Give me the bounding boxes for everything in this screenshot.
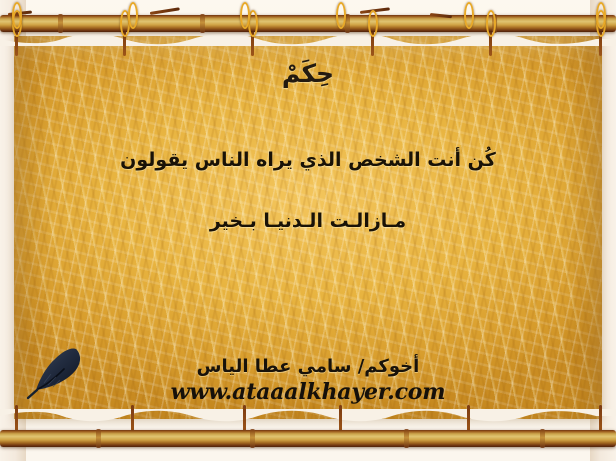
hanging-ring	[128, 2, 138, 29]
rod-node	[404, 429, 409, 448]
rod-node	[250, 429, 255, 448]
scroll-title: حِكَمْ	[30, 60, 586, 88]
quote-card-canvas: حِكَمْ كُن أنت الشخص الذي يراه الناس يقو…	[0, 0, 616, 461]
rod-node	[200, 14, 205, 33]
rod-body-top	[0, 15, 616, 32]
scroll-content: حِكَمْ كُن أنت الشخص الذي يراه الناس يقو…	[30, 44, 586, 411]
bamboo-rod-bottom	[0, 423, 616, 453]
rod-body-bottom	[0, 430, 616, 447]
quote-block: كُن أنت الشخص الذي يراه الناس يقولون مـا…	[30, 148, 586, 235]
bamboo-rod-top	[0, 8, 616, 38]
hanging-ring	[336, 2, 346, 29]
quote-line-2: مـازالـت الـدنيـا بـخير	[30, 209, 586, 235]
hanging-ring	[12, 2, 22, 29]
author-signature: أخوكم/ سامي عطا الياس	[30, 356, 586, 377]
website-url[interactable]: www.ataaalkhayer.com	[30, 379, 586, 405]
hanging-ring	[596, 2, 606, 29]
hanging-ring	[240, 2, 250, 29]
quote-line-1: كُن أنت الشخص الذي يراه الناس يقولون	[30, 148, 586, 174]
hanging-ring	[368, 10, 378, 37]
signature-block: أخوكم/ سامي عطا الياس www.ataaalkhayer.c…	[30, 356, 586, 405]
rod-twig	[150, 7, 180, 15]
hanging-ring	[464, 2, 474, 29]
rod-node	[58, 14, 63, 33]
hanging-ring	[486, 10, 496, 37]
rod-node	[540, 429, 545, 448]
rod-node	[96, 429, 101, 448]
